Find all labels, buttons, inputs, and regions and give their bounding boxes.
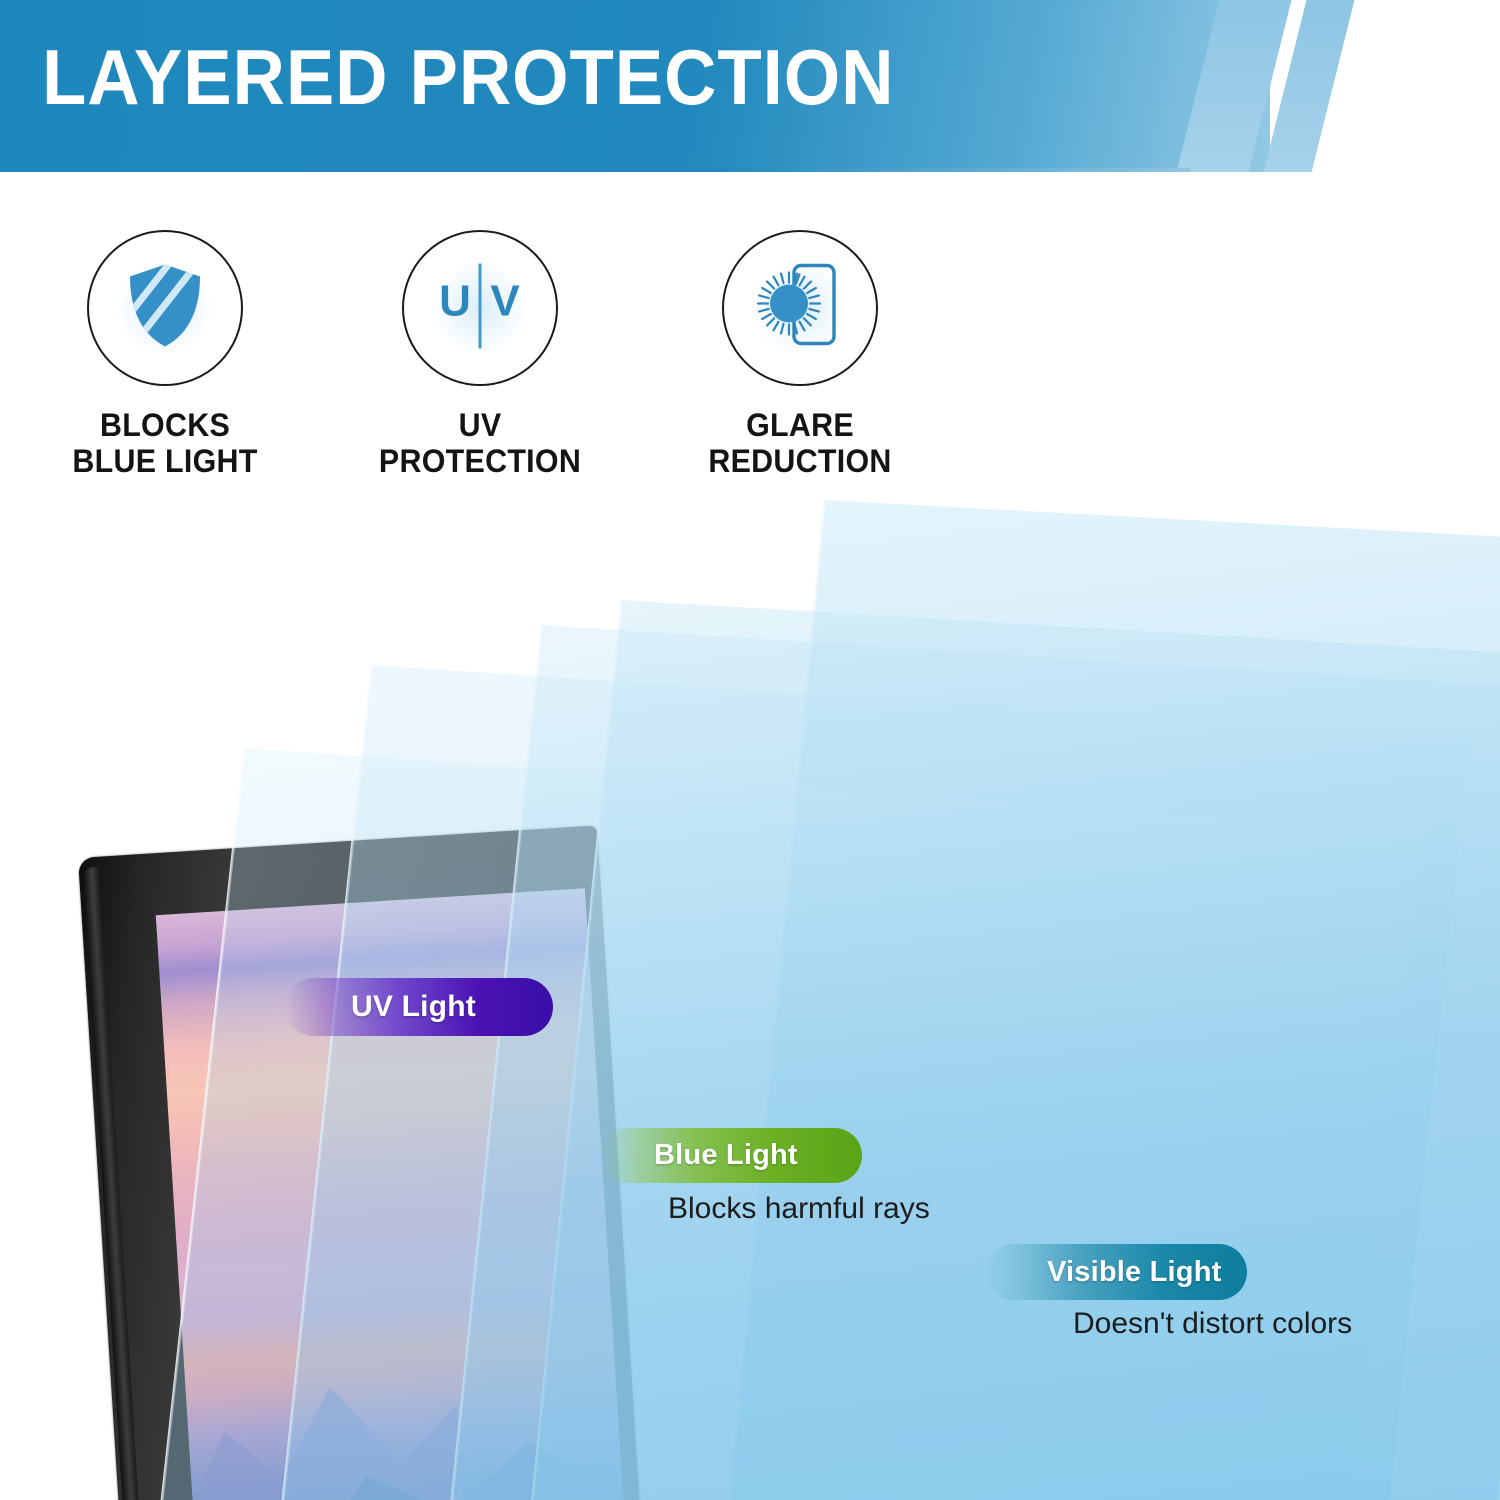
protective-sheet-1 [137,748,1423,1500]
callout-sublabel-blue-light: Blocks harmful rays [668,1192,930,1226]
infographic-canvas: LAYERED PROTECTION [0,0,1500,1500]
callout-uv-light: UV Light [285,978,553,1036]
callout-blue-light: Blue Light [600,1128,862,1183]
sheet-film [137,748,1423,1500]
callout-label: Blue Light [654,1139,798,1172]
callout-label: Visible Light [1047,1256,1221,1289]
callout-sublabel-visible-light: Doesn't distort colors [1073,1307,1352,1341]
layered-screen-illustration: UV Light Blue Light Blocks harmful rays … [0,0,1500,1500]
callout-visible-light: Visible Light [985,1244,1247,1300]
callout-label: UV Light [351,990,476,1024]
